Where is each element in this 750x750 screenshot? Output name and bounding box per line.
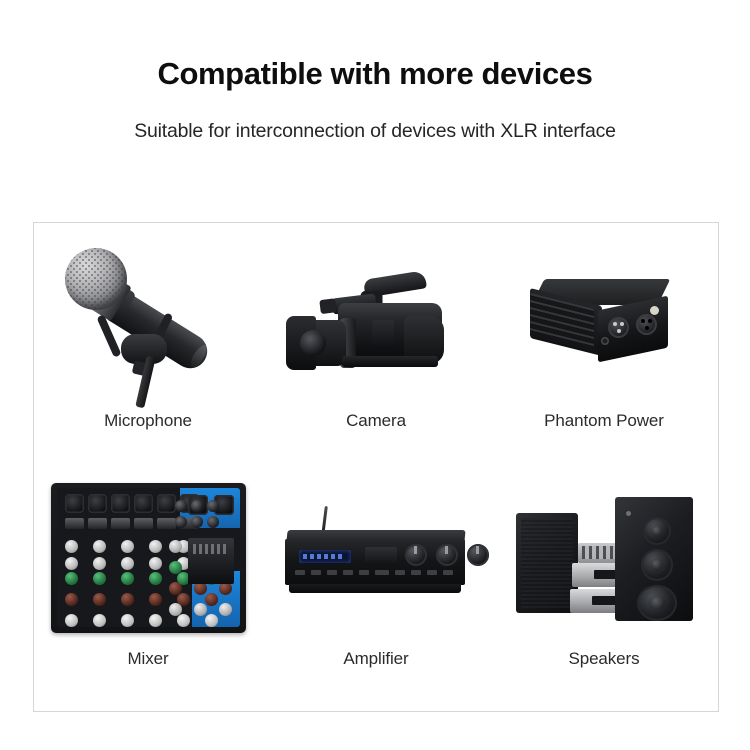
amplifier-display bbox=[299, 550, 351, 563]
phantom-power-icon bbox=[490, 235, 718, 405]
page-subtitle: Suitable for interconnection of devices … bbox=[0, 120, 750, 143]
microphone-icon bbox=[34, 235, 262, 405]
page-title: Compatible with more devices bbox=[0, 56, 750, 92]
mixer-icon bbox=[34, 473, 262, 643]
xlr-male-connector bbox=[608, 317, 629, 338]
microphone-grille bbox=[65, 248, 127, 310]
device-cell-mixer: Mixer bbox=[34, 467, 262, 711]
xlr-female-connector bbox=[636, 314, 657, 335]
device-grid: Microphone bbox=[34, 223, 718, 711]
device-label-mixer: Mixer bbox=[127, 649, 168, 669]
device-cell-speakers: Speakers bbox=[490, 467, 718, 711]
amplifier-base bbox=[289, 584, 461, 593]
product-feature-panel: Compatible with more devices Suitable fo… bbox=[0, 0, 750, 750]
phantom-power-dc-jack bbox=[601, 337, 609, 345]
speakers-icon bbox=[490, 473, 718, 643]
speaker-cabinet-left bbox=[516, 513, 578, 613]
camera-base-plate bbox=[342, 356, 438, 367]
phantom-power-led bbox=[650, 306, 659, 315]
device-grid-card: Microphone bbox=[33, 222, 719, 712]
device-cell-amplifier: Amplifier bbox=[262, 467, 490, 711]
device-label-camera: Camera bbox=[346, 411, 406, 431]
device-label-amplifier: Amplifier bbox=[343, 649, 408, 669]
device-label-microphone: Microphone bbox=[104, 411, 192, 431]
camera-side-panel bbox=[372, 320, 394, 350]
device-cell-camera: Camera bbox=[262, 223, 490, 467]
camera-lens-glass bbox=[300, 330, 326, 356]
mixer-control-surface bbox=[57, 488, 240, 627]
device-label-phantom-power: Phantom Power bbox=[544, 411, 664, 431]
device-label-speakers: Speakers bbox=[568, 649, 639, 669]
speaker-driver-tweeter bbox=[643, 517, 671, 545]
device-cell-phantom-power: Phantom Power bbox=[490, 223, 718, 467]
speaker-driver-midrange bbox=[641, 549, 673, 581]
microphone-clip bbox=[121, 334, 167, 364]
speaker-driver-woofer bbox=[637, 585, 677, 621]
amplifier-ir-window bbox=[365, 547, 397, 565]
amplifier-control-knobs bbox=[405, 544, 489, 566]
amplifier-icon bbox=[262, 473, 490, 643]
amplifier-button-row-right bbox=[379, 570, 453, 575]
speaker-cabinet-right bbox=[615, 497, 693, 621]
mixer-effects-display bbox=[188, 538, 234, 584]
mixer-routing-buttons bbox=[175, 500, 219, 528]
speaker-indicator bbox=[626, 511, 631, 516]
amplifier-button-row-left bbox=[295, 570, 385, 575]
device-cell-microphone: Microphone bbox=[34, 223, 262, 467]
camera-icon bbox=[262, 235, 490, 405]
